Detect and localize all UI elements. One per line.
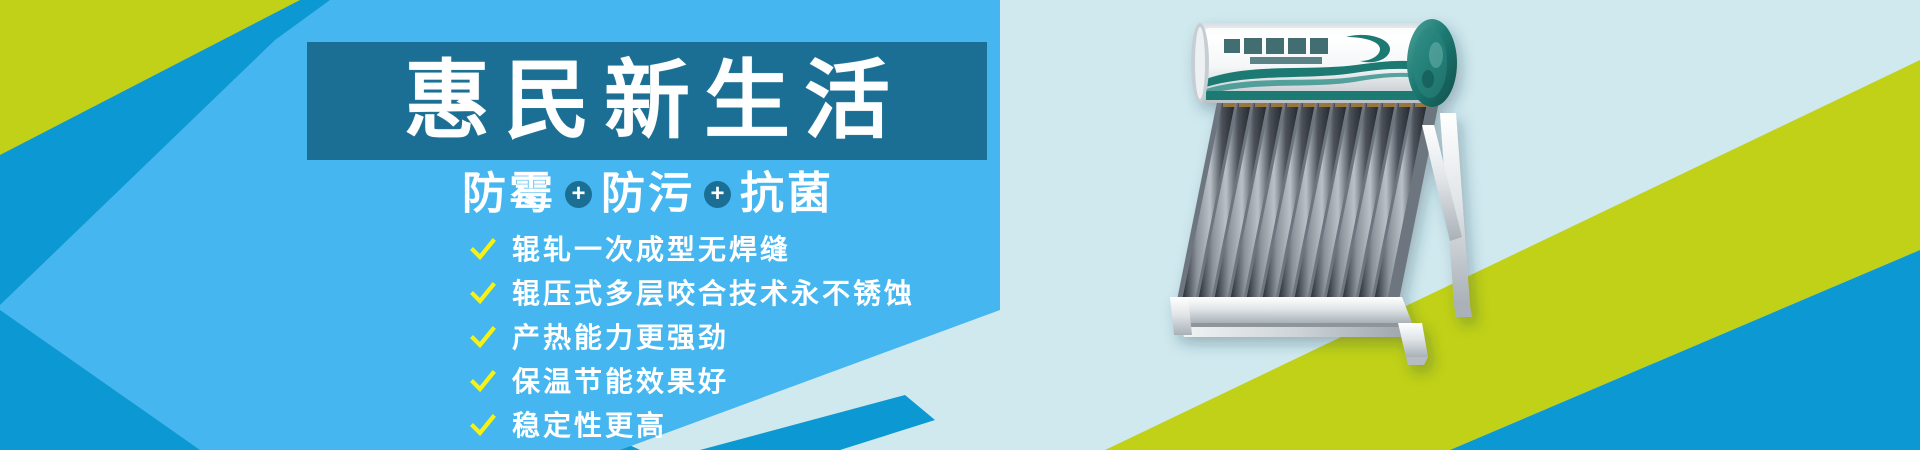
check-icon xyxy=(470,281,496,307)
feature-label: 辊轧一次成型无焊缝 xyxy=(512,236,791,264)
check-icon xyxy=(470,413,496,439)
plus-badge-icon-1: + xyxy=(565,181,592,208)
check-icon xyxy=(470,237,496,263)
feature-list: 辊轧一次成型无焊缝 辊压式多层咬合技术永不锈蚀 产热能力更强劲 保温节能效果好 xyxy=(470,232,915,444)
page-title: 惠民新生活 xyxy=(390,58,904,144)
title-box: 惠民新生活 xyxy=(307,42,987,160)
evacuated-tube-array xyxy=(1176,97,1440,305)
subtitle-row: 防霉 + 防污 + 抗菌 xyxy=(462,172,834,216)
feature-label: 保温节能效果好 xyxy=(512,368,729,396)
feature-item: 保温节能效果好 xyxy=(470,364,915,400)
feature-item: 稳定性更高 xyxy=(470,408,915,444)
subtitle-word-1: 防霉 xyxy=(462,172,556,216)
feature-item: 辊压式多层咬合技术永不锈蚀 xyxy=(470,276,915,312)
feature-label: 产热能力更强劲 xyxy=(512,324,729,352)
product-image-solar-water-heater xyxy=(1140,5,1560,445)
plus-badge-icon-2: + xyxy=(704,181,731,208)
base-frame xyxy=(1170,297,1428,365)
storage-tank xyxy=(1191,19,1457,107)
support-legs xyxy=(1422,113,1472,317)
promo-banner: 惠民新生活 防霉 + 防污 + 抗菌 辊轧一次成型无焊缝 辊压式多层咬合技术永不… xyxy=(0,0,1920,450)
feature-item: 辊轧一次成型无焊缝 xyxy=(470,232,915,268)
check-icon xyxy=(470,325,496,351)
subtitle-word-3: 抗菌 xyxy=(740,172,834,216)
feature-item: 产热能力更强劲 xyxy=(470,320,915,356)
check-icon xyxy=(470,369,496,395)
feature-label: 稳定性更高 xyxy=(512,412,667,440)
feature-label: 辊压式多层咬合技术永不锈蚀 xyxy=(512,280,915,308)
subtitle-word-2: 防污 xyxy=(601,172,695,216)
